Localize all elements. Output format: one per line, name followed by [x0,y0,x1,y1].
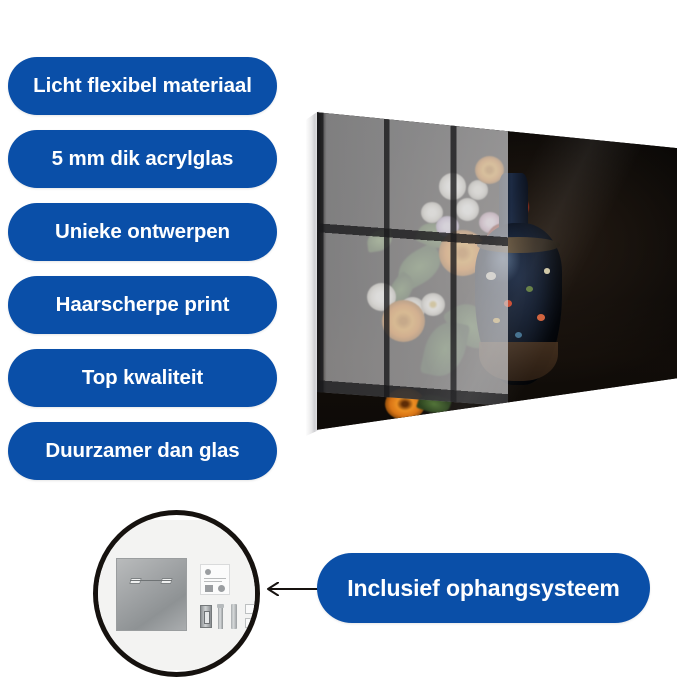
glass-gloss-sheen [317,96,677,448]
hanging-system-badge-label: Inclusief ophangsysteem [347,577,620,600]
acrylic-glass-panel [306,96,678,448]
manual-glyph [205,569,211,575]
plate-groove [130,580,172,581]
hanging-kit-magnifier-circle [93,510,260,677]
spacer [245,618,257,628]
plate-slot-right [160,578,173,584]
artwork-print-face [317,96,677,448]
feature-badge-5-mm-dik-acrylglas[interactable]: 5 mm dik acrylglas [8,130,277,188]
feature-badge-label: 5 mm dik acrylglas [52,149,234,170]
screw-head [217,604,224,608]
feature-badge-duurzamer-dan-glas[interactable]: Duurzamer dan glas [8,422,277,480]
feature-badge-top-kwaliteit[interactable]: Top kwaliteit [8,349,277,407]
hanging-kit-photo [93,520,260,670]
feature-badge-label: Licht flexibel materiaal [33,76,252,97]
manual-line [204,581,222,582]
feature-badge-unieke-ontwerpen[interactable]: Unieke ontwerpen [8,203,277,261]
plate-slot-left [129,578,142,584]
feature-badge-label: Unieke ontwerpen [55,222,230,243]
wall-bracket [200,605,212,628]
feature-badge-label: Haarscherpe print [56,295,230,316]
mounting-plate [116,558,187,631]
feature-badge-licht-flexibel-materiaal[interactable]: Licht flexibel materiaal [8,57,277,115]
feature-badge-label: Top kwaliteit [82,368,203,389]
manual-line [204,578,226,579]
spacer [245,604,257,614]
feature-badge-haarscherpe-print[interactable]: Haarscherpe print [8,276,277,334]
instruction-sheet [200,564,230,595]
feature-badge-label: Duurzamer dan glas [45,441,239,462]
bracket-inner [204,611,210,624]
page-title: Acrylglas wanddecoratie productkenmerken [0,0,1,1]
hanging-system-badge[interactable]: Inclusief ophangsysteem [317,553,650,623]
left-arrow-icon [258,582,320,596]
product-feature-graphic: Licht flexibel materiaal 5 mm dik acrylg… [0,0,700,700]
wall-anchor [231,604,237,629]
manual-glyph [205,585,213,592]
screw [218,604,223,629]
manual-glyph [218,585,225,592]
